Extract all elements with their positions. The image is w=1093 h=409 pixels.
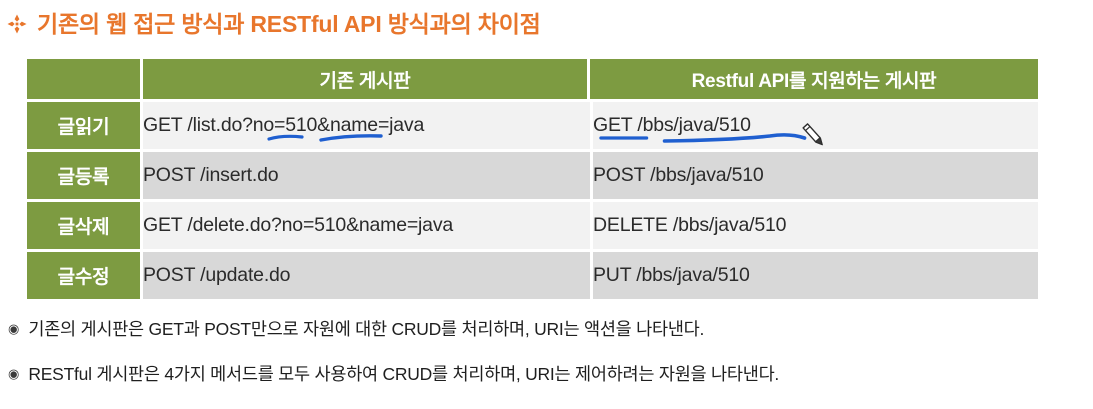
row-label-delete: 글삭제 <box>27 202 143 252</box>
cell-rest-update: PUT /bbs/java/510 <box>590 252 1038 299</box>
row-label-read: 글읽기 <box>27 102 143 152</box>
table-row: 글읽기 GET /list.do?no=510&name=java GET /b… <box>27 102 1038 152</box>
diamond-bullet-icon <box>6 13 28 35</box>
cell-legacy-delete: GET /delete.do?no=510&name=java <box>143 202 590 252</box>
fisheye-bullet-icon: ◉ <box>8 314 19 344</box>
fisheye-bullet-icon: ◉ <box>8 359 19 389</box>
note-item: ◉ RESTful 게시판은 4가지 메서드를 모두 사용하여 CRUD를 처리… <box>8 359 1088 404</box>
cell-rest-delete: DELETE /bbs/java/510 <box>590 202 1038 252</box>
page-title: 기존의 웹 접근 방식과 RESTful API 방식과의 차이점 <box>6 6 541 42</box>
cell-legacy-read: GET /list.do?no=510&name=java <box>143 102 590 152</box>
note-item: ◉ 기존의 게시판은 GET과 POST만으로 자원에 대한 CRUD를 처리하… <box>8 314 1088 359</box>
note-text-1: 기존의 게시판은 GET과 POST만으로 자원에 대한 CRUD를 처리하며,… <box>28 314 704 344</box>
notes-list: ◉ 기존의 게시판은 GET과 POST만으로 자원에 대한 CRUD를 처리하… <box>8 314 1088 404</box>
table-row: 글수정 POST /update.do PUT /bbs/java/510 <box>27 252 1038 299</box>
cell-rest-read-text: GET /bbs/java/510 <box>593 114 751 136</box>
table-header-rest: Restful API를 지원하는 게시판 <box>590 59 1038 102</box>
row-label-update: 글수정 <box>27 252 143 299</box>
cell-rest-create: POST /bbs/java/510 <box>590 152 1038 202</box>
cell-rest-read: GET /bbs/java/510 <box>590 102 1038 152</box>
table-row: 글삭제 GET /delete.do?no=510&name=java DELE… <box>27 202 1038 252</box>
row-label-create: 글등록 <box>27 152 143 202</box>
comparison-table: 기존 게시판 Restful API를 지원하는 게시판 글읽기 GET /li… <box>27 59 1038 299</box>
table-row: 글등록 POST /insert.do POST /bbs/java/510 <box>27 152 1038 202</box>
table-header-blank <box>27 59 143 102</box>
table-header-row: 기존 게시판 Restful API를 지원하는 게시판 <box>27 59 1038 102</box>
note-text-2: RESTful 게시판은 4가지 메서드를 모두 사용하여 CRUD를 처리하며… <box>28 359 779 389</box>
cell-legacy-read-text: GET /list.do?no=510&name=java <box>143 114 424 136</box>
cell-legacy-update: POST /update.do <box>143 252 590 299</box>
cell-legacy-create: POST /insert.do <box>143 152 590 202</box>
page-title-text: 기존의 웹 접근 방식과 RESTful API 방식과의 차이점 <box>37 13 541 36</box>
table-header-legacy: 기존 게시판 <box>143 59 590 102</box>
